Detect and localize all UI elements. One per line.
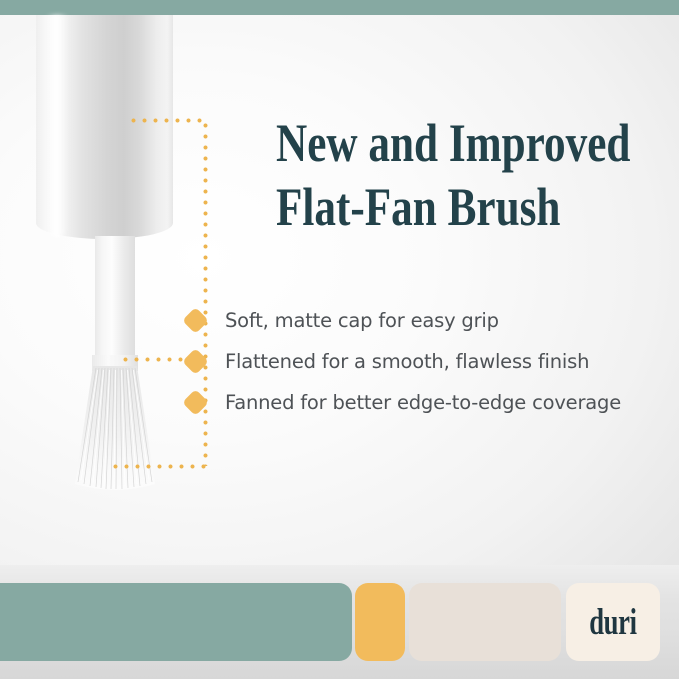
flat-fan-brush-bristles — [40, 366, 190, 494]
headline-line-1: New and Improved — [276, 112, 588, 174]
logo-block: duri — [566, 583, 660, 661]
advertisement-canvas: New and Improved Flat-Fan Brush Soft, ma… — [0, 0, 679, 679]
cream-block — [409, 583, 561, 661]
connector-dots-bottom-horizontal — [110, 464, 206, 469]
feature-text: Fanned for better edge-to-edge coverage — [225, 391, 621, 414]
amber-block — [355, 583, 405, 661]
top-accent-bar — [0, 0, 679, 15]
connector-dots-top-horizontal — [128, 118, 208, 123]
sage-block — [0, 583, 352, 661]
headline-line-2: Flat-Fan Brush — [276, 176, 588, 238]
list-item: Soft, matte cap for easy grip — [186, 300, 666, 341]
cap-highlight — [46, 15, 68, 237]
feature-text: Soft, matte cap for easy grip — [225, 309, 499, 332]
page-title: New and Improved Flat-Fan Brush — [276, 112, 588, 238]
feature-text: Flattened for a smooth, flawless finish — [225, 350, 589, 373]
list-item: Fanned for better edge-to-edge coverage — [186, 382, 666, 423]
brush-stem — [95, 236, 135, 366]
list-item: Flattened for a smooth, flawless finish — [186, 341, 666, 382]
brand-logo: duri — [589, 604, 636, 641]
feature-list: Soft, matte cap for easy grip Flattened … — [186, 300, 666, 423]
diamond-bullet-icon — [182, 348, 209, 375]
diamond-bullet-icon — [182, 307, 209, 334]
diamond-bullet-icon — [182, 389, 209, 416]
